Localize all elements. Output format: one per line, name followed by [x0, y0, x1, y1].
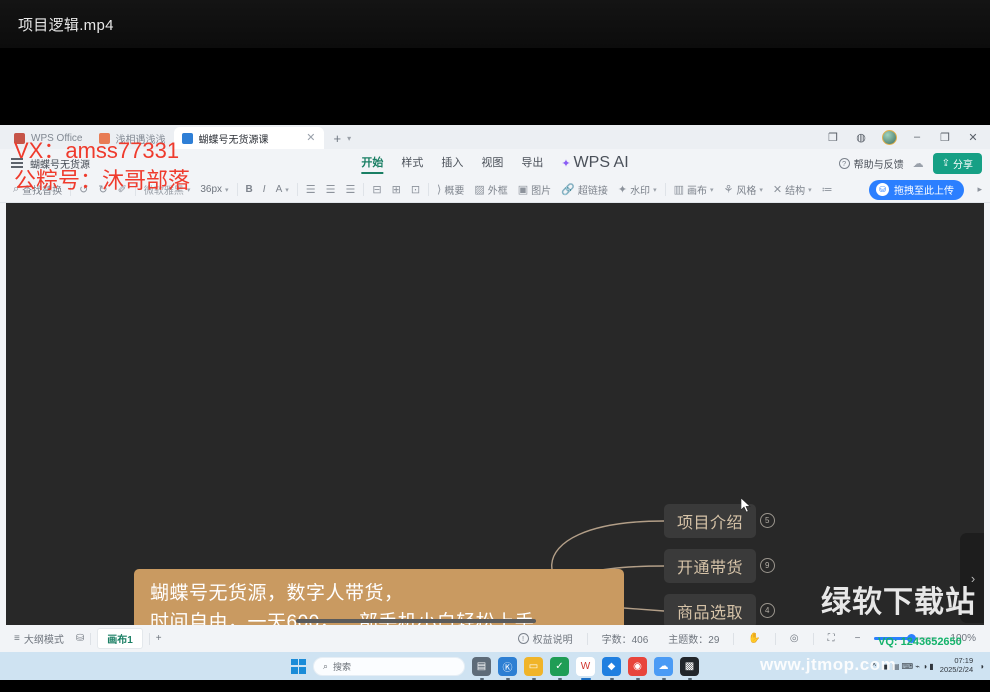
- fit-icon: ◎: [790, 633, 799, 644]
- divider: [297, 183, 298, 196]
- new-tab-button[interactable]: + ▾: [324, 131, 360, 149]
- avatar[interactable]: [876, 127, 902, 147]
- tray-icon-group[interactable]: ▣ ▤ ⌨ ⌁ ◑ ▮: [882, 662, 934, 671]
- toolbar-overflow-button[interactable]: ▸: [977, 184, 982, 195]
- hyperlink-button[interactable]: 🔗 超链接: [556, 182, 613, 197]
- help-feedback-button[interactable]: ? 帮助与反馈: [839, 156, 904, 171]
- search-icon: ⌕: [13, 183, 19, 196]
- watermark-canvas-text: 绿软下载站: [821, 577, 976, 621]
- divider: [733, 633, 734, 645]
- layers-button[interactable]: ⛁: [70, 633, 90, 644]
- zoom-level: 100%: [944, 633, 982, 644]
- clock-date: 2025/2/24: [940, 666, 973, 675]
- taskbar-center-group: ⌕ 搜索 ▤ Ⓚ ▭ ✓ W ◆ ◉ ☁ ▩: [291, 657, 699, 676]
- menu-item-style[interactable]: 样式: [401, 154, 423, 172]
- canvas-label: 画布: [687, 182, 707, 197]
- k-app-icon[interactable]: Ⓚ: [498, 657, 517, 676]
- child-node-icon: ⊞: [392, 183, 401, 196]
- chevron-down-icon: ▾: [759, 186, 763, 194]
- mindmap-icon: [182, 133, 193, 144]
- font-family-value: 微软雅黑: [144, 182, 184, 197]
- ai-sparkle-icon: ✦: [561, 157, 570, 170]
- taskbar-search-input[interactable]: ⌕ 搜索: [313, 657, 465, 676]
- hand-icon: ✋: [748, 633, 760, 644]
- chevron-down-icon: ▾: [225, 186, 229, 194]
- outline-box-label: 外框: [488, 182, 508, 197]
- node-label: 开通带货: [677, 554, 743, 578]
- chevron-down-icon: ▾: [808, 186, 812, 194]
- align-center-icon: ☰: [326, 183, 336, 196]
- cloud-app-icon[interactable]: ☁: [654, 657, 673, 676]
- search-placeholder: 搜索: [333, 660, 351, 673]
- info-icon: !: [518, 633, 529, 644]
- upload-button[interactable]: ⛁ 拖拽至此上传: [869, 180, 964, 200]
- wps-icon: [14, 133, 25, 144]
- close-icon[interactable]: ✕: [306, 133, 315, 144]
- italic-button[interactable]: I: [258, 184, 271, 195]
- menu-item-wps-ai[interactable]: ✦ WPS AI: [561, 154, 628, 172]
- zoom-out-button[interactable]: −: [849, 633, 867, 644]
- add-sheet-button[interactable]: +: [150, 633, 168, 644]
- layers-icon: ⛁: [76, 633, 84, 644]
- summary-button[interactable]: ⟩ 概要: [432, 182, 469, 197]
- help-label: 帮助与反馈: [854, 156, 904, 171]
- menu-right-actions: ? 帮助与反馈 ☁ ⇪ 分享: [839, 153, 982, 174]
- divider: [665, 183, 666, 196]
- structure-icon: ✕: [773, 183, 782, 196]
- node-label: 商品选取: [677, 599, 743, 623]
- zoom-slider[interactable]: [874, 637, 936, 640]
- tab-label: 浅相遇浅浅: [116, 131, 166, 146]
- style-label: 风格: [736, 182, 756, 197]
- panel-icon[interactable]: ❐: [820, 127, 846, 147]
- menu-item-insert[interactable]: 插入: [441, 154, 463, 172]
- canvas-horizontal-scrollbar[interactable]: [296, 619, 536, 623]
- video-file-title: 项目逻辑.mp4: [18, 14, 114, 35]
- upload-label: 拖拽至此上传: [894, 182, 954, 197]
- browser-tabstrip: WPS Office 浅相遇浅浅 蝴蝶号无货源课 ✕ + ▾ ❐ ◍ – ❐: [0, 125, 990, 149]
- format-painter-icon: ✐: [118, 183, 127, 196]
- watermark-label: 水印: [630, 182, 650, 197]
- mindmap-root-node[interactable]: 蝴蝶号无货源，数字人带货， 时间自由，一天600，一部手机小白轻松上手: [134, 569, 624, 625]
- file-explorer-icon[interactable]: ▤: [472, 657, 491, 676]
- outline-mode-label: 大纲模式: [24, 631, 64, 646]
- child-node-button[interactable]: ⊞: [387, 183, 406, 196]
- menu-items: 开始 样式 插入 视图 导出 ✦ WPS AI: [361, 154, 628, 172]
- windows-taskbar: ⌕ 搜索 ▤ Ⓚ ▭ ✓ W ◆ ◉ ☁ ▩ ^ ▣ ▤ ⌨ ⌁ ◑ ▮ 07:…: [0, 652, 990, 680]
- align-center-button[interactable]: ☰: [321, 183, 341, 196]
- divider: [775, 633, 776, 645]
- zoom-slider-knob[interactable]: [907, 634, 916, 643]
- align-left-icon: ☰: [306, 183, 316, 196]
- divider: [428, 183, 429, 196]
- structure-button[interactable]: ✕ 结构 ▾: [768, 182, 817, 197]
- image-icon: ▣: [518, 183, 528, 196]
- canvas-button[interactable]: ▥ 画布 ▾: [669, 182, 719, 197]
- outline-mode-button[interactable]: ≡ 大纲模式: [8, 631, 70, 646]
- wps-application-window: WPS Office 浅相遇浅浅 蝴蝶号无货源课 ✕ + ▾ ❐ ◍ – ❐: [0, 125, 990, 652]
- align-left-button[interactable]: ☰: [301, 183, 321, 196]
- menu-item-export[interactable]: 导出: [521, 154, 543, 172]
- sheet-tab-canvas1[interactable]: 画布1: [91, 628, 149, 649]
- mouse-cursor-icon: [741, 498, 751, 513]
- sheet-tab-label: 画布1: [97, 628, 143, 649]
- dark-app-icon[interactable]: ▩: [680, 657, 699, 676]
- node-count-badge[interactable]: 9: [760, 558, 775, 573]
- watermark-icon: ✦: [618, 183, 627, 196]
- window-controls: ❐ ◍ – ❐ ✕: [820, 127, 986, 147]
- find-replace-label: 查找替换: [22, 182, 62, 197]
- video-playback-area[interactable]: [0, 48, 990, 125]
- menu-item-start[interactable]: 开始: [361, 154, 383, 172]
- summary-label: 概要: [444, 182, 464, 197]
- format-painter-button[interactable]: ✐: [113, 183, 132, 196]
- outline-box-button[interactable]: ▨ 外框: [469, 182, 512, 197]
- chevron-down-icon: ▾: [285, 186, 289, 194]
- chrome-icon[interactable]: ◉: [628, 657, 647, 676]
- mindmap-connectors: [6, 203, 984, 625]
- question-icon: ?: [839, 158, 850, 169]
- share-button[interactable]: ⇪ 分享: [933, 153, 982, 174]
- rights-label: 权益说明: [533, 631, 573, 646]
- orange-doc-icon: [99, 133, 110, 144]
- document-name: 蝴蝶号无货源: [30, 156, 90, 171]
- summary-icon: ⟩: [437, 183, 441, 196]
- tab-label: WPS Office: [31, 133, 83, 144]
- chevron-down-icon: ▾: [710, 186, 714, 194]
- style-button[interactable]: ⚘ 风格 ▾: [719, 182, 768, 197]
- tab-wps-office[interactable]: WPS Office: [6, 127, 91, 149]
- divider: [70, 183, 71, 196]
- new-tab-label: +: [334, 131, 342, 146]
- hamburger-menu-icon[interactable]: [0, 158, 26, 167]
- windows-start-icon[interactable]: [291, 659, 306, 674]
- hyperlink-label: 超链接: [578, 182, 608, 197]
- tab-active-mindmap[interactable]: 蝴蝶号无货源课 ✕: [174, 127, 324, 149]
- frame-tool-button[interactable]: ⛶: [822, 633, 841, 644]
- restore-button[interactable]: ❐: [932, 127, 958, 147]
- mindmap-node-enable-selling[interactable]: 开通带货 9: [664, 549, 756, 583]
- tray-expand-icon[interactable]: ^: [872, 662, 876, 671]
- root-node-line1: 蝴蝶号无货源，数字人带货，: [150, 579, 624, 608]
- align-right-icon: ☰: [346, 183, 356, 196]
- undo-icon: ↺: [79, 183, 88, 196]
- taskbar-clock[interactable]: 07:19 2025/2/24: [940, 657, 973, 674]
- image-label: 图片: [531, 182, 551, 197]
- font-size-select[interactable]: 36px ▾: [195, 184, 233, 195]
- redo-icon: ↻: [98, 183, 107, 196]
- style-icon: ⚘: [724, 183, 734, 196]
- folder-icon[interactable]: ▭: [524, 657, 543, 676]
- system-tray: ^ ▣ ▤ ⌨ ⌁ ◑ ▮ 07:19 2025/2/24 ◑: [872, 657, 984, 674]
- tab-label: 蝴蝶号无货源课: [199, 131, 269, 146]
- node-count-badge[interactable]: 5: [760, 513, 775, 528]
- image-button[interactable]: ▣ 图片: [513, 182, 556, 197]
- frame-icon: ⛶: [828, 633, 835, 644]
- status-bar-right: ! 权益说明 字数：406 主题数：29 ✋ ◎ ⛶ − 100%: [512, 631, 982, 646]
- fit-to-screen-button[interactable]: ◎: [784, 633, 805, 644]
- notification-icon[interactable]: ◑: [979, 662, 984, 671]
- upload-cloud-icon: ⛁: [876, 183, 889, 196]
- screen-root: 项目逻辑.mp4 WPS Office 浅相遇浅浅 蝴蝶号无货源课 ✕ + ▾: [0, 0, 990, 692]
- mindmap-node-product-selection[interactable]: 商品选取 4: [664, 594, 756, 625]
- free-node-icon: ⊡: [411, 183, 420, 196]
- chevron-down-icon[interactable]: ▾: [347, 134, 351, 143]
- same-level-node-icon: ⊟: [372, 183, 381, 196]
- bold-button[interactable]: B: [241, 184, 258, 195]
- chevron-down-icon: ▾: [653, 186, 657, 194]
- outline-box-icon: ▨: [474, 183, 484, 196]
- share-icon: ⇪: [942, 158, 950, 169]
- mindmap-canvas[interactable]: 蝴蝶号无货源，数字人带货， 时间自由，一天600，一部手机小白轻松上手 项目介绍…: [6, 203, 984, 625]
- menu-item-view[interactable]: 视图: [481, 154, 503, 172]
- list-button[interactable]: ≔: [817, 183, 838, 196]
- list-icon: ≔: [822, 183, 833, 196]
- menu-bar: 蝴蝶号无货源 开始 样式 插入 视图 导出 ✦ WPS AI ? 帮助与反馈 ☁: [0, 149, 990, 177]
- find-replace-button[interactable]: ⌕ 查找替换: [8, 182, 67, 197]
- free-node-button[interactable]: ⊡: [406, 183, 425, 196]
- redo-button[interactable]: ↻: [93, 183, 112, 196]
- word-count: 字数：406: [596, 631, 655, 646]
- share-label: 分享: [953, 156, 973, 171]
- green-app-icon[interactable]: ✓: [550, 657, 569, 676]
- undo-button[interactable]: ↺: [74, 183, 93, 196]
- formatting-toolbar: ⌕ 查找替换 ↺ ↻ ✐ 微软雅黑 ▾ 36px ▾ B I A ▾: [0, 177, 990, 203]
- bold-label: B: [246, 184, 253, 195]
- link-icon: 🔗: [561, 183, 575, 196]
- outline-icon: ≡: [14, 633, 20, 644]
- close-button[interactable]: ✕: [960, 127, 986, 147]
- status-bar: ≡ 大纲模式 ⛁ 画布1 + ! 权益说明 字数：406 主题数：29 ✋: [0, 625, 990, 652]
- tab-second-doc[interactable]: 浅相遇浅浅: [91, 127, 174, 149]
- align-right-button[interactable]: ☰: [341, 183, 361, 196]
- topic-count: 主题数：29: [662, 631, 725, 646]
- search-icon: ⌕: [323, 661, 328, 672]
- divider: [813, 633, 814, 645]
- same-level-node-button[interactable]: ⊟: [367, 183, 386, 196]
- blue-app-icon[interactable]: ◆: [602, 657, 621, 676]
- font-color-label: A: [276, 184, 283, 195]
- cloud-sync-icon[interactable]: ☁: [913, 157, 924, 170]
- font-size-value: 36px: [200, 184, 222, 195]
- node-label: 项目介绍: [677, 509, 743, 533]
- wps-app-icon[interactable]: W: [576, 657, 595, 676]
- chevron-down-icon: ▾: [187, 186, 191, 194]
- font-family-select[interactable]: 微软雅黑 ▾: [139, 182, 196, 197]
- divider: [237, 183, 238, 196]
- globe-icon[interactable]: ◍: [848, 127, 874, 147]
- font-color-button[interactable]: A ▾: [271, 184, 294, 195]
- wps-ai-label: WPS AI: [574, 154, 629, 172]
- node-count-badge[interactable]: 4: [760, 603, 775, 618]
- divider: [587, 633, 588, 645]
- minimize-button[interactable]: –: [904, 127, 930, 147]
- divider: [135, 183, 136, 196]
- structure-label: 结构: [785, 182, 805, 197]
- video-player-header: 项目逻辑.mp4: [0, 0, 990, 48]
- screen-bottom-letterbox: [0, 680, 990, 692]
- canvas-icon: ▥: [674, 183, 684, 196]
- divider: [363, 183, 364, 196]
- hand-tool-button[interactable]: ✋: [742, 633, 766, 644]
- rights-info-button[interactable]: ! 权益说明: [512, 631, 579, 646]
- zoom-slider-fill: [874, 637, 910, 640]
- watermark-button[interactable]: ✦ 水印 ▾: [613, 182, 662, 197]
- italic-label: I: [263, 184, 266, 195]
